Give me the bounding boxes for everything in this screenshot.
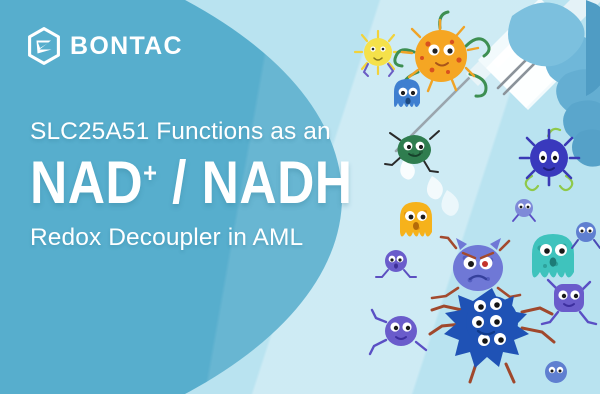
bontac-article-banner: BONTAC SLC25A51 Functions as an NAD+ / N… — [0, 0, 600, 400]
bottom-white-strip — [0, 394, 600, 400]
headline-kicker: SLC25A51 Functions as an — [30, 118, 360, 145]
headline-block: SLC25A51 Functions as an NAD+ / NADH Red… — [30, 118, 360, 251]
title-nadh: / NADH — [157, 149, 352, 216]
headline-subtitle: Redox Decoupler in AML — [30, 224, 360, 251]
brand-logo[interactable]: BONTAC — [27, 27, 183, 65]
brand-name: BONTAC — [70, 34, 183, 59]
title-superscript-plus: + — [143, 157, 157, 188]
headline-main-title: NAD+ / NADH — [30, 151, 314, 215]
title-nad: NAD — [30, 149, 143, 216]
bontac-hexagon-logo-icon — [27, 27, 61, 65]
